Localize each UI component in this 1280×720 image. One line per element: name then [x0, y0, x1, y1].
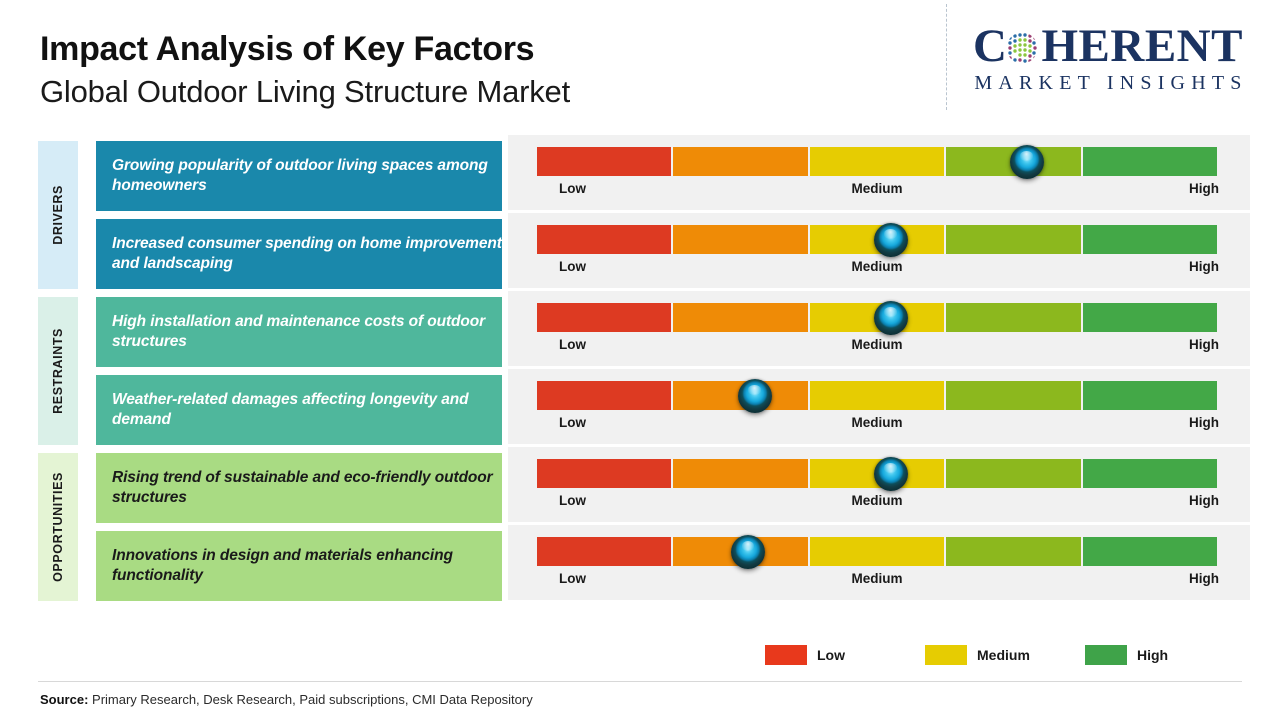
- gauge-label-med: Medium: [851, 493, 902, 508]
- gauge-segment-1: [537, 225, 671, 254]
- impact-marker[interactable]: [874, 457, 908, 491]
- company-logo: C: [958, 22, 1258, 95]
- gauge-segment-4: [946, 459, 1080, 488]
- page-title: Impact Analysis of Key Factors: [40, 30, 570, 69]
- factor-box: High installation and maintenance costs …: [96, 297, 502, 367]
- gauge-label-med: Medium: [851, 415, 902, 430]
- gauge-segment-3: [810, 537, 944, 566]
- gauge-segment-5: [1083, 459, 1217, 488]
- gauge-label-high: High: [1189, 181, 1219, 196]
- gauge-label-low: Low: [559, 181, 586, 196]
- factor-text: Rising trend of sustainable and eco-frie…: [112, 468, 502, 509]
- impact-marker[interactable]: [731, 535, 765, 569]
- legend-item-high: High: [1085, 645, 1168, 665]
- factor-text: Growing popularity of outdoor living spa…: [112, 156, 502, 197]
- gauge-label-high: High: [1189, 337, 1219, 352]
- impact-gauge: LowMediumHigh: [508, 369, 1250, 444]
- factor-row: High installation and maintenance costs …: [38, 297, 1250, 367]
- gauge-label-high: High: [1189, 415, 1219, 430]
- gauge-segment-4: [946, 381, 1080, 410]
- legend-swatch: [1085, 645, 1127, 665]
- legend-swatch: [925, 645, 967, 665]
- gauge-scale-labels: LowMediumHigh: [537, 259, 1217, 279]
- impact-marker[interactable]: [874, 301, 908, 335]
- source-note: Source: Primary Research, Desk Research,…: [40, 692, 533, 707]
- gauge-track: [537, 537, 1217, 566]
- factor-text: Increased consumer spending on home impr…: [112, 234, 502, 275]
- logo-divider: [946, 4, 947, 110]
- impact-gauge: LowMediumHigh: [508, 525, 1250, 600]
- impact-gauge: LowMediumHigh: [508, 213, 1250, 288]
- legend-label: Medium: [977, 647, 1030, 663]
- factor-box: Innovations in design and materials enha…: [96, 531, 502, 601]
- gauge-label-med: Medium: [851, 337, 902, 352]
- logo-word-herent: HERENT: [1041, 23, 1243, 70]
- legend-label: High: [1137, 647, 1168, 663]
- legend-item-low: Low: [765, 645, 845, 665]
- factor-row: Growing popularity of outdoor living spa…: [38, 141, 1250, 211]
- logo-wordmark: C: [958, 22, 1258, 70]
- legend-label: Low: [817, 647, 845, 663]
- factor-box: Increased consumer spending on home impr…: [96, 219, 502, 289]
- impact-gauge: LowMediumHigh: [508, 447, 1250, 522]
- gauge-scale-labels: LowMediumHigh: [537, 181, 1217, 201]
- gauge-label-high: High: [1189, 259, 1219, 274]
- page-subtitle: Global Outdoor Living Structure Market: [40, 73, 570, 110]
- gauge-label-low: Low: [559, 571, 586, 586]
- gauge-segment-5: [1083, 381, 1217, 410]
- gauge-segment-1: [537, 147, 671, 176]
- gauge-segment-2: [673, 303, 807, 332]
- gauge-label-low: Low: [559, 493, 586, 508]
- factor-text: Weather-related damages affecting longev…: [112, 390, 502, 431]
- source-label: Source:: [40, 692, 88, 707]
- factor-box: Rising trend of sustainable and eco-frie…: [96, 453, 502, 523]
- infographic-page: Impact Analysis of Key Factors Global Ou…: [0, 0, 1280, 720]
- factor-row: Rising trend of sustainable and eco-frie…: [38, 453, 1250, 523]
- gauge-segment-3: [810, 147, 944, 176]
- header: Impact Analysis of Key Factors Global Ou…: [0, 0, 1280, 130]
- factor-text: High installation and maintenance costs …: [112, 312, 502, 353]
- gauge-scale-labels: LowMediumHigh: [537, 493, 1217, 513]
- gauge-segment-1: [537, 459, 671, 488]
- gauge-segment-2: [673, 147, 807, 176]
- gauge-scale-labels: LowMediumHigh: [537, 571, 1217, 591]
- gauge-segment-4: [946, 225, 1080, 254]
- gauge-segment-5: [1083, 303, 1217, 332]
- factor-row: Weather-related damages affecting longev…: [38, 375, 1250, 445]
- gauge-track: [537, 381, 1217, 410]
- title-block: Impact Analysis of Key Factors Global Ou…: [40, 30, 570, 111]
- gauge-label-med: Medium: [851, 571, 902, 586]
- gauge-segment-5: [1083, 147, 1217, 176]
- factor-row: Increased consumer spending on home impr…: [38, 219, 1250, 289]
- gauge-label-low: Low: [559, 415, 586, 430]
- gauge-label-low: Low: [559, 337, 586, 352]
- gauge-segment-5: [1083, 537, 1217, 566]
- gauge-label-high: High: [1189, 571, 1219, 586]
- gauge-label-med: Medium: [851, 259, 902, 274]
- impact-gauge: LowMediumHigh: [508, 291, 1250, 366]
- gauge-segment-4: [946, 303, 1080, 332]
- gauge-scale-labels: LowMediumHigh: [537, 415, 1217, 435]
- logo-letter-c: C: [973, 23, 1007, 70]
- factor-row: Innovations in design and materials enha…: [38, 531, 1250, 601]
- gauge-segment-1: [537, 381, 671, 410]
- legend-item-medium: Medium: [925, 645, 1030, 665]
- gauge-track: [537, 147, 1217, 176]
- gauge-segment-5: [1083, 225, 1217, 254]
- source-text: Primary Research, Desk Research, Paid su…: [88, 692, 532, 707]
- gauge-segment-2: [673, 459, 807, 488]
- gauge-segment-1: [537, 537, 671, 566]
- impact-marker[interactable]: [1010, 145, 1044, 179]
- impact-gauge: LowMediumHigh: [508, 135, 1250, 210]
- gauge-label-high: High: [1189, 493, 1219, 508]
- impact-marker[interactable]: [874, 223, 908, 257]
- globe-dots-icon: [1004, 30, 1040, 66]
- factor-box: Weather-related damages affecting longev…: [96, 375, 502, 445]
- gauge-segment-2: [673, 225, 807, 254]
- factor-box: Growing popularity of outdoor living spa…: [96, 141, 502, 211]
- factor-text: Innovations in design and materials enha…: [112, 546, 502, 587]
- impact-legend: LowMediumHigh: [765, 645, 1205, 667]
- gauge-segment-1: [537, 303, 671, 332]
- gauge-label-low: Low: [559, 259, 586, 274]
- gauge-segment-4: [946, 537, 1080, 566]
- gauge-segment-3: [810, 381, 944, 410]
- gauge-label-med: Medium: [851, 181, 902, 196]
- legend-swatch: [765, 645, 807, 665]
- gauge-scale-labels: LowMediumHigh: [537, 337, 1217, 357]
- footer-divider: [38, 681, 1242, 682]
- logo-tagline: MARKET INSIGHTS: [958, 72, 1258, 95]
- impact-marker[interactable]: [738, 379, 772, 413]
